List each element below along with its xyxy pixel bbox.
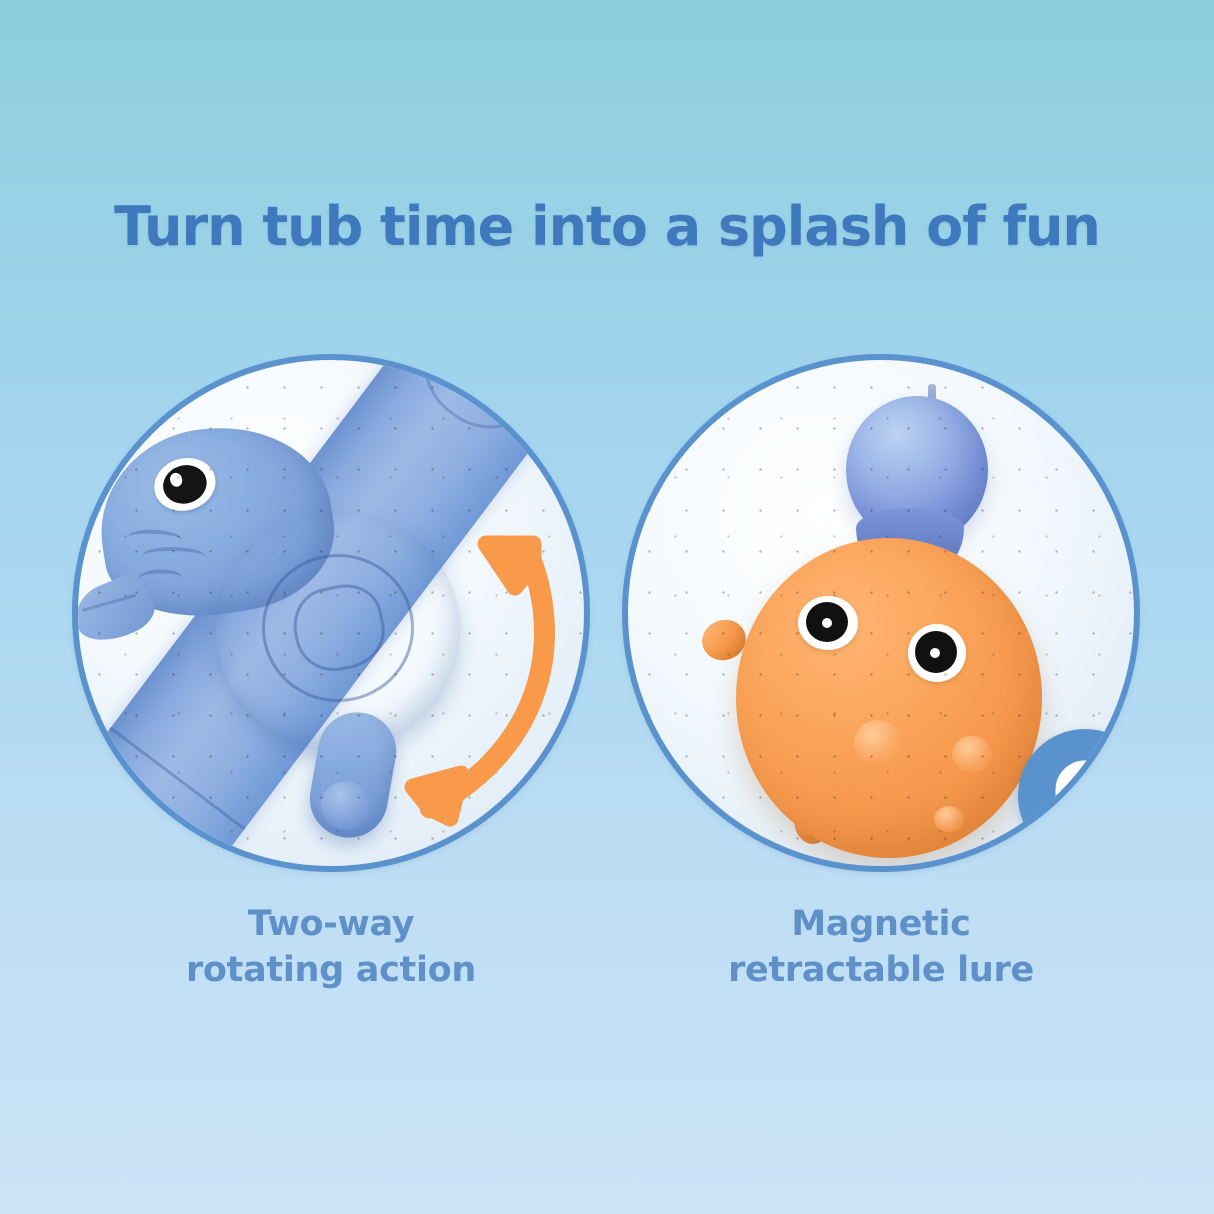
fish-eye — [798, 596, 858, 650]
rotating-dial — [216, 512, 460, 748]
rod-seam — [110, 727, 246, 831]
magnet-badge — [1018, 729, 1140, 863]
feature-photo-rotating-action — [72, 354, 590, 872]
page-title: Turn tub time into a splash of fun — [0, 199, 1214, 256]
fish-eye-glint — [930, 648, 940, 658]
photo-content-rotating-action — [78, 360, 584, 866]
fish-eye-glint — [822, 618, 832, 628]
feature-poster: Turn tub time into a splash of fun — [0, 0, 1214, 1214]
orange-fish-body — [736, 538, 1042, 858]
rod-cap — [399, 360, 540, 453]
fish-eye-glint — [168, 471, 184, 488]
feature-panel-two-way-rotating-action: Two-way rotating action — [72, 354, 592, 1014]
feature-panel-magnetic-retractable-lure: Magnetic retractable lure — [622, 354, 1142, 1014]
fish-pupil — [158, 460, 211, 509]
feature-caption-magnetic-retractable-lure: Magnetic retractable lure — [622, 902, 1140, 993]
fish-eye — [148, 450, 222, 518]
feature-caption-two-way-rotating-action: Two-way rotating action — [72, 902, 590, 993]
fish-gill — [143, 546, 205, 565]
magnet-icon — [1043, 754, 1127, 838]
feature-photo-magnetic-lure — [622, 354, 1140, 872]
body-bump — [934, 806, 964, 832]
body-bump — [854, 720, 902, 764]
body-bump — [952, 736, 992, 772]
fish-eye — [908, 624, 966, 682]
feature-panels: Two-way rotating action — [0, 354, 1214, 1014]
